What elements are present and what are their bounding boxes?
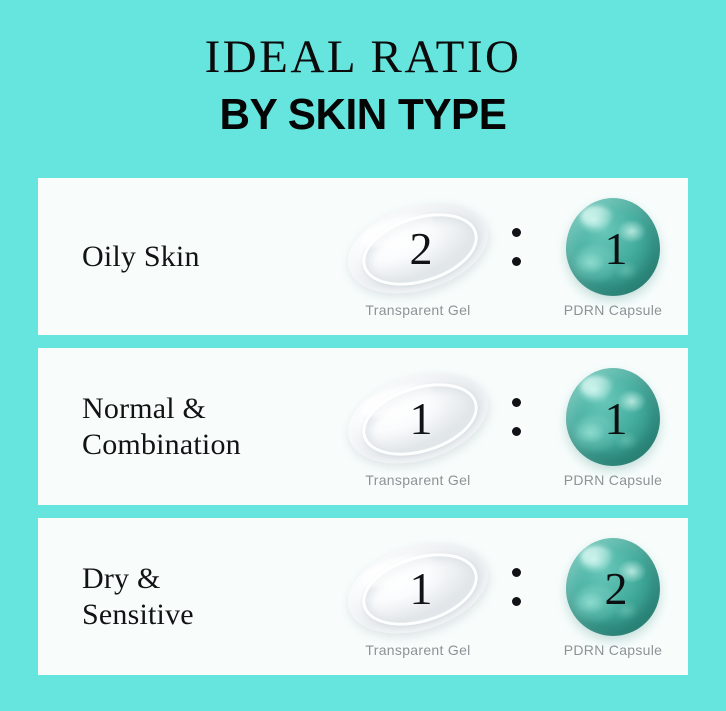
gel-ratio-value: 1	[338, 370, 498, 466]
capsule-caption: PDRN Capsule	[558, 302, 668, 318]
gel-caption: Transparent Gel	[338, 302, 498, 318]
skin-type-label: Normal & Combination	[82, 391, 241, 463]
colon-dot-top	[512, 398, 521, 407]
colon-dot-bottom	[512, 427, 521, 436]
transparent-gel-icon: 1	[338, 540, 498, 636]
ratio-separator	[512, 228, 526, 276]
capsule-ratio-value: 1	[558, 366, 668, 470]
capsule-caption: PDRN Capsule	[558, 642, 668, 658]
capsule-ratio-value: 1	[558, 196, 668, 300]
gel-ratio-value: 2	[338, 200, 498, 296]
colon-dot-bottom	[512, 597, 521, 606]
skin-type-label: Oily Skin	[82, 239, 200, 275]
transparent-gel-icon: 1	[338, 370, 498, 466]
ratio-rows: Oily Skin 2 1 Transparent Gel PDRN Capsu…	[38, 178, 688, 675]
gel-caption: Transparent Gel	[338, 472, 498, 488]
pdrn-capsule-icon: 1	[558, 366, 668, 470]
colon-dot-bottom	[512, 257, 521, 266]
ideal-ratio-infographic: IDEAL RATIO BY SKIN TYPE Oily Skin 2 1 T…	[0, 0, 726, 711]
gel-caption: Transparent Gel	[338, 642, 498, 658]
ratio-separator	[512, 398, 526, 446]
page-subtitle: BY SKIN TYPE	[15, 90, 712, 140]
table-row: Dry & Sensitive 1 2 Transparent Gel PDRN…	[38, 518, 688, 675]
pdrn-capsule-icon: 2	[558, 536, 668, 640]
skin-type-label: Dry & Sensitive	[82, 561, 194, 633]
ratio-separator	[512, 568, 526, 616]
capsule-caption: PDRN Capsule	[558, 472, 668, 488]
table-row: Oily Skin 2 1 Transparent Gel PDRN Capsu…	[38, 178, 688, 335]
header: IDEAL RATIO BY SKIN TYPE	[0, 30, 726, 140]
capsule-ratio-value: 2	[558, 536, 668, 640]
pdrn-capsule-icon: 1	[558, 196, 668, 300]
colon-dot-top	[512, 568, 521, 577]
gel-ratio-value: 1	[338, 540, 498, 636]
page-title: IDEAL RATIO	[0, 30, 726, 84]
table-row: Normal & Combination 1 1 Transparent Gel…	[38, 348, 688, 505]
transparent-gel-icon: 2	[338, 200, 498, 296]
colon-dot-top	[512, 228, 521, 237]
